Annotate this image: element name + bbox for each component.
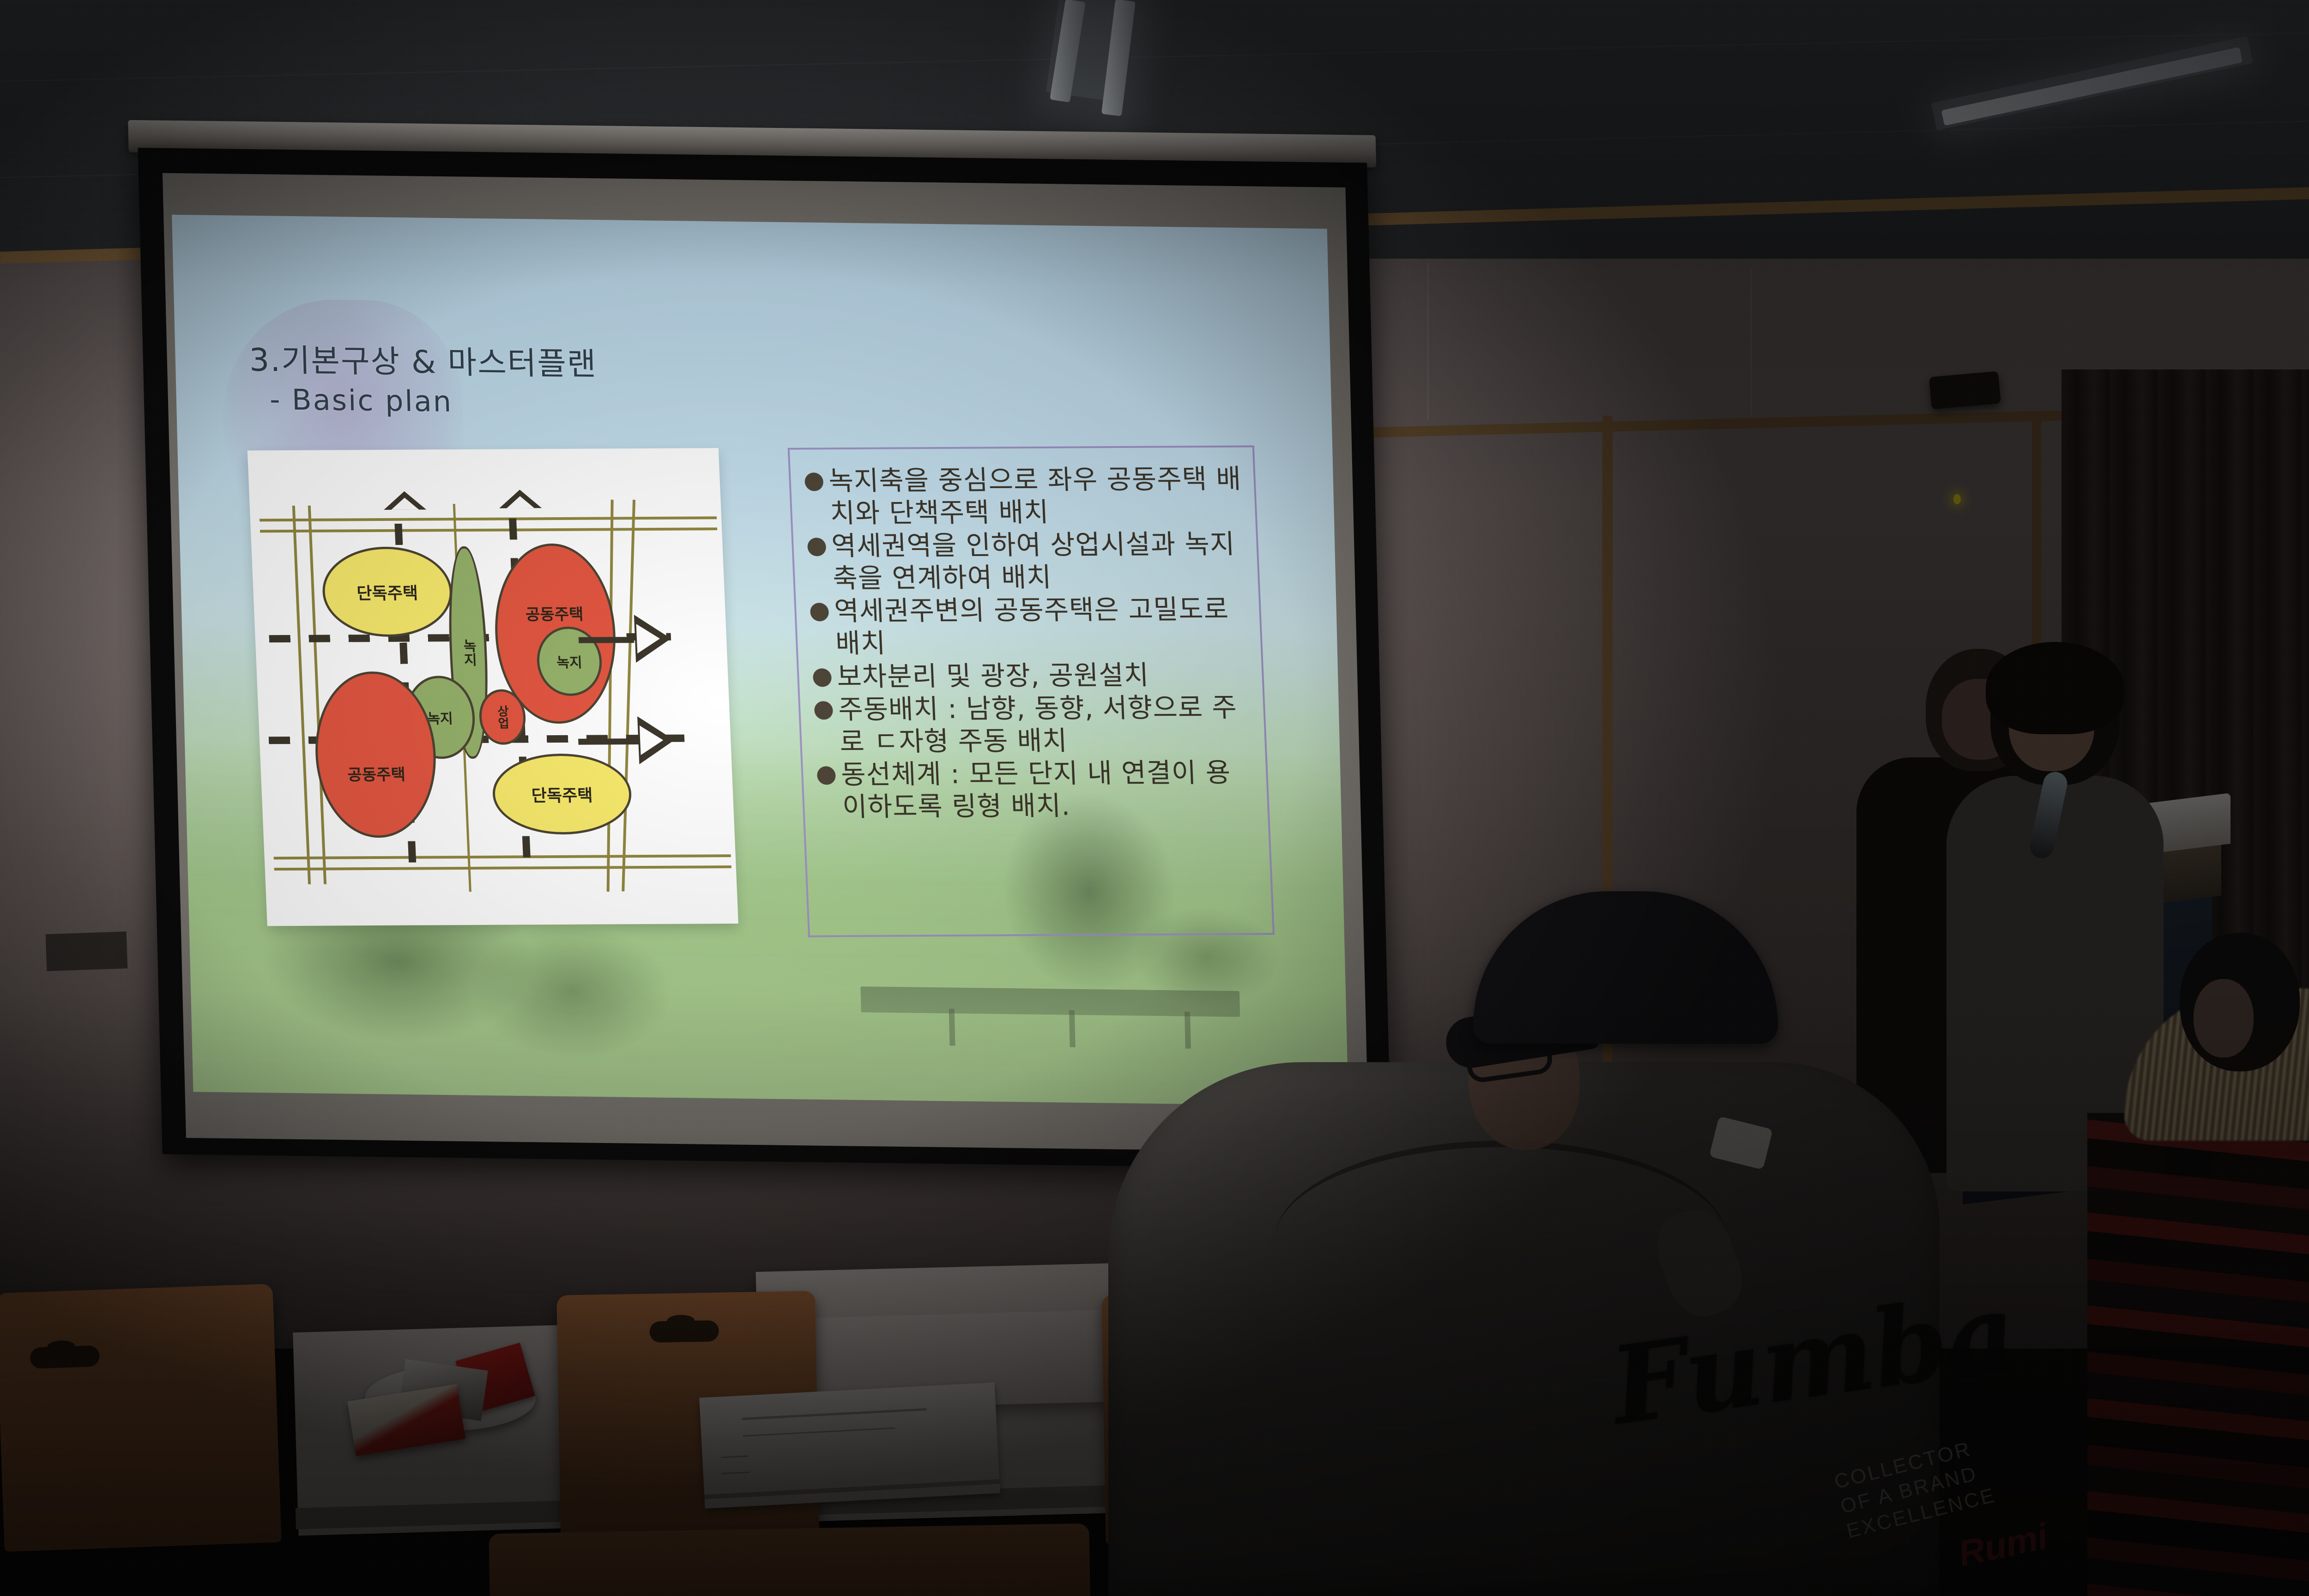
zone-label: 녹지: [427, 707, 453, 727]
projected-slide: 3.기본구상 & 마스터플랜 - Basic plan: [172, 215, 1348, 1106]
bullet-item: 동선체계 : 모든 단지 내 연결이 용이하도록 링형 배치.: [816, 757, 1256, 823]
screen-surface: 3.기본구상 & 마스터플랜 - Basic plan: [163, 173, 1369, 1153]
road-vertical: [622, 500, 635, 891]
speaker-led-indicator: [1953, 494, 1961, 504]
flow-arrow-icon: [637, 716, 675, 764]
bullet-text: 역세권역을 인하여 상업시설과 녹지축을 연계하여 배치: [831, 528, 1246, 595]
road-horizontal: [274, 865, 731, 871]
gate-marker-icon: [498, 490, 542, 508]
bullet-text: 주동배치 : 남향, 동향, 서향으로 주로 ㄷ자형 주동 배치: [838, 692, 1253, 758]
handout-paper: [699, 1382, 1000, 1508]
zone-label: 단독주택: [356, 580, 418, 604]
handout-text-line: [742, 1408, 927, 1420]
bullet-dot-icon: [814, 701, 834, 719]
bullet-item: 녹지축을 중심으로 좌우 공동주택 배치와 단책주택 배치: [804, 463, 1244, 530]
handout-text-line: [743, 1427, 895, 1437]
chair-handle-cutout: [30, 1345, 100, 1369]
bullet-text: 녹지축을 중심으로 좌우 공동주택 배치와 단책주택 배치: [828, 463, 1244, 530]
bullet-text: 동선체계 : 모든 단지 내 연결이 용이하도록 링형 배치.: [840, 757, 1256, 823]
chair-foreground: [489, 1523, 1090, 1596]
wall-speaker-icon: [1929, 371, 2001, 410]
slide-photo-bridge-leg: [1185, 1012, 1191, 1049]
zone-label: 녹지: [458, 639, 479, 666]
bullet-item: 역세권역을 인하여 상업시설과 녹지축을 연계하여 배치: [807, 528, 1246, 595]
zone-label: 상업: [493, 705, 511, 729]
wall-panel-seam: [1427, 263, 1429, 420]
road-horizontal: [260, 516, 717, 521]
slide-photo-bridge-leg: [1069, 1010, 1076, 1047]
projection-screen: 3.기본구상 & 마스터플랜 - Basic plan: [139, 175, 1392, 1188]
slide-photo-bridge: [860, 986, 1240, 1017]
slide-title: 3.기본구상 & 마스터플랜 - Basic plan: [249, 340, 1036, 428]
bullet-item: 주동배치 : 남향, 동향, 서향으로 주로 ㄷ자형 주동 배치: [814, 692, 1253, 758]
handout-text-line: [721, 1456, 749, 1458]
bullet-text: 보차분리 및 광장, 공원설치: [836, 659, 1251, 693]
bullet-dot-icon: [810, 603, 829, 622]
slide-bullet-box: 녹지축을 중심으로 좌우 공동주택 배치와 단책주택 배치 역세권역을 인하여 …: [788, 445, 1275, 937]
photo-scene: 3.기본구상 & 마스터플랜 - Basic plan: [0, 0, 2309, 1596]
slide-photo-bridge-leg: [949, 1009, 955, 1046]
zone-label: 공동주택: [347, 762, 405, 785]
wall-box: [46, 931, 128, 971]
road-vertical: [607, 500, 614, 892]
zone-detached-housing-a: 단독주택: [321, 546, 454, 637]
bullet-dot-icon: [804, 472, 824, 491]
bullet-item: 보차분리 및 광장, 공원설치: [812, 659, 1251, 693]
gate-marker-icon: [383, 491, 426, 509]
zone-label: 공동주택: [525, 601, 584, 624]
bullet-item: 역세권주변의 공동주택은 고밀도로 배치: [810, 593, 1249, 660]
bullet-dot-icon: [807, 538, 827, 556]
bullet-text: 역세권주변의 공동주택은 고밀도로 배치: [834, 593, 1249, 660]
chair-handle-cutout: [649, 1320, 719, 1343]
handout-text-line: [722, 1471, 750, 1474]
land-use-diagram: 단독주택 공동주택 녹지 녹지 녹지 상업: [248, 448, 738, 926]
flow-arrow-icon: [634, 615, 672, 663]
chair-left: [0, 1284, 282, 1552]
wall-panel-seam: [1750, 268, 1752, 416]
road-horizontal: [274, 854, 731, 859]
zone-detached-housing-b: 단독주택: [491, 753, 633, 835]
flow-arrow-stem: [579, 637, 635, 643]
road-horizontal: [260, 527, 717, 532]
audience-right-face: [2194, 979, 2254, 1058]
audience-right-jacket: [2087, 1113, 2309, 1596]
presenter-right-hair: [1986, 642, 2124, 734]
road-vertical: [308, 506, 326, 884]
road-vertical: [292, 506, 311, 884]
zone-label: 녹지: [556, 651, 582, 671]
hoodie-brand-logo: Rumi: [1955, 1515, 2052, 1575]
bullet-dot-icon: [813, 668, 832, 687]
bullet-dot-icon: [817, 767, 836, 785]
audience-right: [2124, 961, 2309, 1596]
zone-label: 단독주택: [531, 782, 593, 806]
flow-arrow-stem: [578, 738, 641, 745]
